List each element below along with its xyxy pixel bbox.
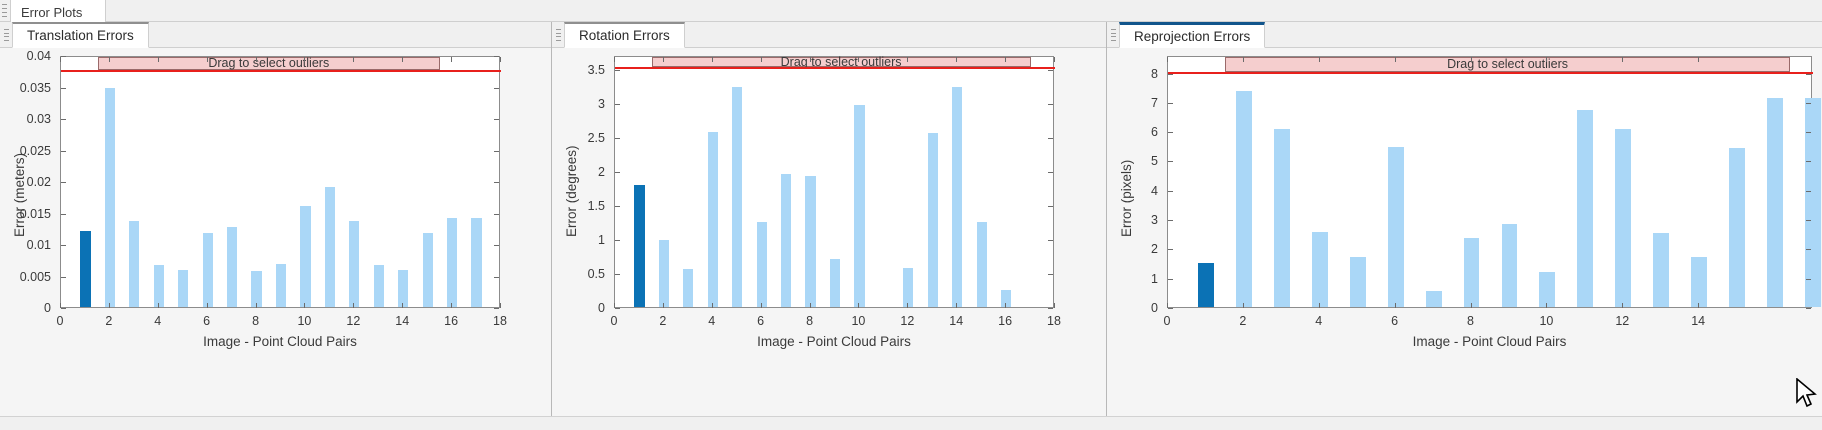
bar[interactable] [1502,224,1518,307]
bar[interactable] [732,87,742,307]
x-axis-tick-mark-top [810,57,811,62]
x-axis-tick-mark [207,303,208,308]
y-axis-tick-mark-right [1806,74,1811,75]
tab-translation-errors[interactable]: Translation Errors [12,22,149,48]
x-axis-tick-mark [1005,303,1006,308]
x-axis-tick-label: 12 [900,314,914,328]
outlier-drag-band-label: Drag to select outliers [1447,57,1568,71]
axes-area[interactable]: Drag to select outliers [614,56,1054,308]
x-axis-tick-mark-top [907,57,908,62]
bar[interactable] [903,268,913,307]
x-axis-tick-mark [1243,303,1244,308]
y-axis-tick-label: 3 [552,97,605,111]
bar[interactable] [1577,110,1593,307]
x-axis-tick-mark [1546,303,1547,308]
y-axis-label: Error (pixels) [1119,160,1134,237]
y-axis-tick-label: 7 [1107,96,1158,110]
x-axis-tick-mark [712,303,713,308]
y-axis-tick-mark [61,119,66,120]
y-axis-tick-mark [61,151,66,152]
bar[interactable] [1653,233,1669,307]
x-axis-tick-label: 6 [757,314,764,328]
panel-tabstrip-0: Translation Errors [0,22,551,48]
x-axis-tick-label: 8 [806,314,813,328]
x-axis-tick-label: 16 [998,314,1012,328]
y-axis-tick-label: 0.04 [0,49,51,63]
y-axis-tick-label: 1 [1107,272,1158,286]
outlier-drag-band[interactable]: Drag to select outliers [652,57,1031,67]
y-axis-tick-mark [1168,74,1173,75]
y-axis-tick-mark-right [1048,308,1053,309]
bars-layer: Drag to select outliers [615,57,1053,307]
bar[interactable] [1236,91,1252,307]
x-axis-tick-mark-top [1167,57,1168,62]
bar[interactable] [781,174,791,307]
y-axis-tick-mark-right [1806,279,1811,280]
y-axis-tick-mark [61,277,66,278]
x-axis-tick-mark-top [761,57,762,62]
y-axis-tick-mark [615,308,620,309]
bar[interactable] [1274,129,1290,307]
y-axis-tick-mark [615,70,620,71]
y-axis-tick-mark-right [494,277,499,278]
y-axis-label: Error (meters) [12,153,27,237]
y-axis-tick-label: 0.035 [0,81,51,95]
bar[interactable] [276,264,286,307]
x-axis-tick-mark-top [109,57,110,62]
y-axis-tick-label: 0.005 [0,270,51,284]
x-axis-tick-mark-top [1005,57,1006,62]
x-axis-tick-label: 0 [1164,314,1171,328]
bar[interactable] [325,187,335,307]
bars-layer: Drag to select outliers [61,57,499,307]
bar[interactable] [423,233,433,307]
y-axis-tick-mark [1168,249,1173,250]
y-axis-tick-mark-right [494,119,499,120]
x-axis-tick-mark [256,303,257,308]
tab-reprojection-errors[interactable]: Reprojection Errors [1119,22,1265,48]
x-axis-tick-label: 12 [346,314,360,328]
y-axis-tick-label: 2.5 [552,131,605,145]
bar[interactable] [154,265,164,307]
plot-reprojection-errors: Drag to select outliers 0123456780246810… [1107,48,1822,430]
y-axis-tick-label: 3.5 [552,63,605,77]
y-axis-tick-label: 0 [0,301,51,315]
error-plots-window: Error Plots Translation Errors Drag to s… [0,0,1822,430]
tab-label: Translation Errors [27,28,134,43]
drag-grip-icon[interactable] [1111,29,1116,41]
y-axis-tick-mark [615,172,620,173]
bar[interactable] [1312,232,1328,307]
bar[interactable] [952,87,962,307]
axes-area[interactable]: Drag to select outliers [60,56,500,308]
x-axis-tick-label: 12 [1615,314,1629,328]
x-axis-tick-label: 8 [1467,314,1474,328]
y-axis-tick-mark [615,274,620,275]
y-axis-tick-mark [615,206,620,207]
bar[interactable] [928,133,938,307]
outlier-drag-band[interactable]: Drag to select outliers [98,57,440,70]
panel-reprojection-errors: Reprojection Errors Drag to select outli… [1107,22,1822,430]
x-axis-tick-label: 14 [395,314,409,328]
x-axis-tick-label: 4 [708,314,715,328]
y-axis-tick-mark [615,240,620,241]
threshold-line[interactable] [1168,72,1813,74]
y-axis-tick-mark-right [494,214,499,215]
x-axis-tick-mark-top [1546,57,1547,62]
threshold-line[interactable] [61,70,501,72]
x-axis-tick-mark [451,303,452,308]
x-axis-tick-mark-top [1054,57,1055,62]
y-axis-tick-mark [1168,103,1173,104]
bar[interactable] [471,218,481,307]
y-axis-tick-mark [61,88,66,89]
x-axis-tick-mark [1698,303,1699,308]
x-axis-tick-mark-top [158,57,159,62]
x-axis-tick-label: 14 [949,314,963,328]
panel-rotation-errors: Rotation Errors Drag to select outliers … [552,22,1107,430]
bottom-strip [0,416,1822,430]
bar[interactable] [178,270,188,307]
bar[interactable] [1539,272,1555,307]
outer-tabstrip: Error Plots [0,0,1822,22]
bar[interactable] [129,221,139,307]
x-axis-tick-mark-top [60,57,61,62]
y-axis-tick-mark-right [1048,274,1053,275]
bar[interactable] [1426,291,1442,307]
x-axis-tick-mark-top [614,57,615,62]
y-axis-tick-mark-right [494,151,499,152]
x-axis-tick-label: 0 [611,314,618,328]
x-axis-tick-mark [60,303,61,308]
x-axis-tick-mark [1395,303,1396,308]
bar[interactable] [1198,263,1214,307]
drag-grip-icon[interactable] [2,4,7,17]
bar[interactable] [203,233,213,307]
y-axis-tick-mark [1168,308,1173,309]
bar[interactable] [805,176,815,307]
x-axis-tick-label: 8 [252,314,259,328]
y-axis-tick-mark-right [1806,249,1811,250]
y-axis-tick-mark [1168,161,1173,162]
x-axis-tick-label: 10 [851,314,865,328]
bar[interactable] [757,222,767,307]
x-axis-tick-mark-top [1622,57,1623,62]
y-axis-tick-mark [1168,279,1173,280]
y-axis-tick-mark [1168,191,1173,192]
y-axis-tick-label: 0.03 [0,112,51,126]
tab-rotation-errors[interactable]: Rotation Errors [564,22,685,48]
bar[interactable] [830,259,840,307]
x-axis-label: Image - Point Cloud Pairs [1167,334,1812,349]
y-axis-tick-mark-right [1048,206,1053,207]
bar[interactable] [1350,257,1366,307]
bar[interactable] [854,105,864,307]
y-axis-tick-mark-right [1806,308,1811,309]
x-axis-tick-mark [402,303,403,308]
bar[interactable] [708,132,718,307]
x-axis-tick-mark-top [1243,57,1244,62]
outer-tab-error-plots[interactable]: Error Plots [10,0,106,22]
y-axis-tick-mark-right [1048,70,1053,71]
bar[interactable] [300,206,310,307]
bar[interactable] [1464,238,1480,307]
bar[interactable] [634,185,644,307]
y-axis-tick-mark-right [494,182,499,183]
y-axis-tick-mark-right [1048,104,1053,105]
y-axis-tick-mark [61,214,66,215]
x-axis-tick-label: 2 [1239,314,1246,328]
y-axis-tick-label: 0.01 [0,238,51,252]
x-axis-tick-mark-top [1698,57,1699,62]
y-axis-tick-label: 8 [1107,67,1158,81]
bar[interactable] [1805,98,1821,308]
y-axis-tick-label: 6 [1107,125,1158,139]
bar[interactable] [398,270,408,307]
x-axis-tick-mark [614,303,615,308]
x-axis-tick-mark-top [451,57,452,62]
y-axis-tick-mark [61,308,66,309]
y-axis-tick-label: 0 [1107,301,1158,315]
x-axis-tick-mark-top [1319,57,1320,62]
x-axis-tick-mark-top [353,57,354,62]
x-axis-tick-label: 2 [105,314,112,328]
bar[interactable] [659,240,669,307]
x-axis-tick-label: 6 [203,314,210,328]
bar[interactable] [227,227,237,307]
x-axis-tick-mark-top [500,57,501,62]
x-axis-tick-mark [304,303,305,308]
x-axis-tick-label: 2 [659,314,666,328]
bar[interactable] [683,269,693,307]
x-axis-tick-mark-top [304,57,305,62]
y-axis-tick-mark-right [1806,161,1811,162]
x-axis-tick-mark [810,303,811,308]
panel-row: Translation Errors Drag to select outlie… [0,22,1822,430]
y-axis-label: Error (degrees) [564,145,579,237]
y-axis-tick-label: 0.5 [552,267,605,281]
x-axis-tick-label: 0 [57,314,64,328]
x-axis-tick-label: 18 [1047,314,1061,328]
y-axis-tick-mark-right [1806,103,1811,104]
y-axis-tick-mark-right [494,88,499,89]
bar[interactable] [251,271,261,307]
tab-label: Reprojection Errors [1134,29,1250,44]
x-axis-tick-label: 4 [1315,314,1322,328]
x-axis-tick-label: 14 [1691,314,1705,328]
panel-tabstrip-2: Reprojection Errors [1107,22,1822,48]
x-axis-tick-mark-top [956,57,957,62]
bar[interactable] [105,88,115,307]
x-axis-tick-mark-top [1471,57,1472,62]
x-axis-tick-mark [663,303,664,308]
y-axis-tick-mark [1168,132,1173,133]
bar[interactable] [1388,147,1404,307]
x-axis-tick-label: 16 [444,314,458,328]
x-axis-tick-mark [1622,303,1623,308]
y-axis-tick-mark-right [1806,132,1811,133]
y-axis-tick-mark-right [1048,172,1053,173]
outlier-drag-band-label: Drag to select outliers [208,56,329,70]
tab-label: Rotation Errors [579,28,670,43]
panel-translation-errors: Translation Errors Drag to select outlie… [0,22,552,430]
x-axis-tick-label: 4 [154,314,161,328]
x-axis-tick-mark [956,303,957,308]
y-axis-tick-mark-right [1048,138,1053,139]
x-axis-tick-mark [1319,303,1320,308]
x-axis-label: Image - Point Cloud Pairs [60,334,500,349]
x-axis-tick-label: 10 [297,314,311,328]
y-axis-tick-mark [615,138,620,139]
x-axis-tick-mark-top [712,57,713,62]
x-axis-tick-mark-top [858,57,859,62]
x-axis-tick-mark [1167,303,1168,308]
x-axis-tick-label: 6 [1391,314,1398,328]
x-axis-tick-mark-top [1395,57,1396,62]
x-axis-tick-mark [761,303,762,308]
y-axis-tick-mark-right [494,308,499,309]
bar[interactable] [1691,257,1707,307]
y-axis-tick-mark-right [1048,240,1053,241]
x-axis-tick-mark [1471,303,1472,308]
plot-rotation-errors: Drag to select outliers 00.511.522.533.5… [552,48,1106,430]
x-axis-label: Image - Point Cloud Pairs [614,334,1054,349]
outlier-drag-band[interactable]: Drag to select outliers [1225,57,1790,72]
bar[interactable] [1767,98,1783,308]
x-axis-tick-mark [858,303,859,308]
x-axis-tick-mark [353,303,354,308]
y-axis-tick-mark [1168,220,1173,221]
bars-layer: Drag to select outliers [1168,57,1811,307]
outer-tab-label: Error Plots [21,5,82,20]
bar[interactable] [977,222,987,307]
plot-translation-errors: Drag to select outliers 00.0050.010.0150… [0,48,551,430]
bar[interactable] [1615,129,1631,307]
x-axis-tick-mark [109,303,110,308]
threshold-line[interactable] [615,67,1055,69]
drag-grip-icon[interactable] [4,29,9,41]
panel-tabstrip-1: Rotation Errors [552,22,1106,48]
x-axis-tick-mark [1054,303,1055,308]
y-axis-tick-mark-right [494,56,499,57]
y-axis-tick-mark [61,245,66,246]
bar[interactable] [349,221,359,307]
x-axis-tick-mark [907,303,908,308]
y-axis-tick-mark [61,56,66,57]
x-axis-tick-mark-top [663,57,664,62]
drag-grip-icon[interactable] [556,29,561,41]
x-axis-tick-mark-top [207,57,208,62]
y-axis-tick-label: 2 [1107,242,1158,256]
x-axis-tick-label: 18 [493,314,507,328]
x-axis-tick-mark-top [402,57,403,62]
bar[interactable] [374,265,384,307]
bar[interactable] [447,218,457,307]
y-axis-tick-mark [61,182,66,183]
y-axis-tick-mark-right [1806,191,1811,192]
x-axis-tick-mark [158,303,159,308]
bar[interactable] [80,231,90,307]
y-axis-tick-mark [615,104,620,105]
x-axis-tick-mark [500,303,501,308]
bar[interactable] [1729,148,1745,307]
y-axis-tick-label: 0 [552,301,605,315]
x-axis-tick-mark-top [256,57,257,62]
y-axis-tick-mark-right [1806,220,1811,221]
y-axis-tick-mark-right [494,245,499,246]
x-axis-tick-label: 10 [1539,314,1553,328]
axes-area[interactable]: Drag to select outliers [1167,56,1812,308]
